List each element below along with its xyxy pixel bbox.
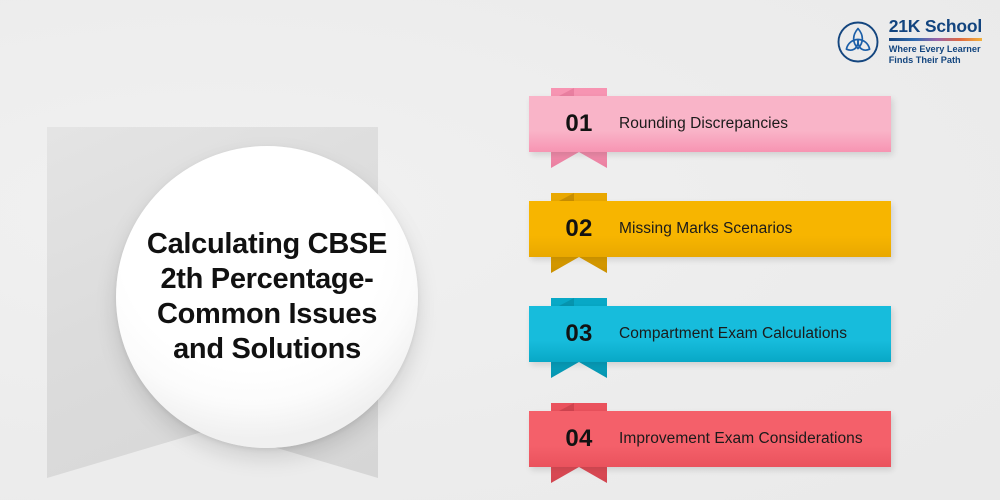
- ribbon-fold: [559, 298, 574, 306]
- list-item-label: Compartment Exam Calculations: [619, 306, 847, 362]
- page-title: Calculating CBSE 2th Percentage- Common …: [147, 227, 387, 367]
- infographic-canvas: 21K School Where Every Learner Finds The…: [0, 0, 1000, 500]
- list-item[interactable]: 02 Missing Marks Scenarios: [529, 193, 891, 298]
- ribbon-fold: [559, 403, 574, 411]
- brand-logo: 21K School Where Every Learner Finds The…: [836, 18, 982, 66]
- list-item-number: 01: [551, 96, 607, 152]
- brand-tagline-line-1: Where Every Learner: [889, 44, 981, 54]
- list-item-number: 03: [551, 306, 607, 362]
- list-item-label: Missing Marks Scenarios: [619, 201, 792, 257]
- brand-tagline-line-2: Finds Their Path: [889, 55, 961, 65]
- brand-tagline: Where Every Learner Finds Their Path: [889, 44, 982, 66]
- list-item-label: Improvement Exam Considerations: [619, 411, 863, 467]
- lotus-in-circle-logo-icon: [836, 20, 880, 64]
- ribbon-fold: [559, 193, 574, 201]
- list-item-label: Rounding Discrepancies: [619, 96, 788, 152]
- list-item[interactable]: 04 Improvement Exam Considerations: [529, 403, 891, 500]
- list-item[interactable]: 01 Rounding Discrepancies: [529, 88, 891, 193]
- topic-list: 01 Rounding Discrepancies 02 Missing Mar…: [529, 88, 891, 500]
- list-item-number: 02: [551, 201, 607, 257]
- brand-name: 21K School: [889, 18, 982, 36]
- brand-text-block: 21K School Where Every Learner Finds The…: [889, 18, 982, 66]
- list-item-number: 04: [551, 411, 607, 467]
- list-item[interactable]: 03 Compartment Exam Calculations: [529, 298, 891, 403]
- title-circle: Calculating CBSE 2th Percentage- Common …: [116, 146, 418, 448]
- brand-gradient-rule: [889, 38, 982, 41]
- ribbon-fold: [559, 88, 574, 96]
